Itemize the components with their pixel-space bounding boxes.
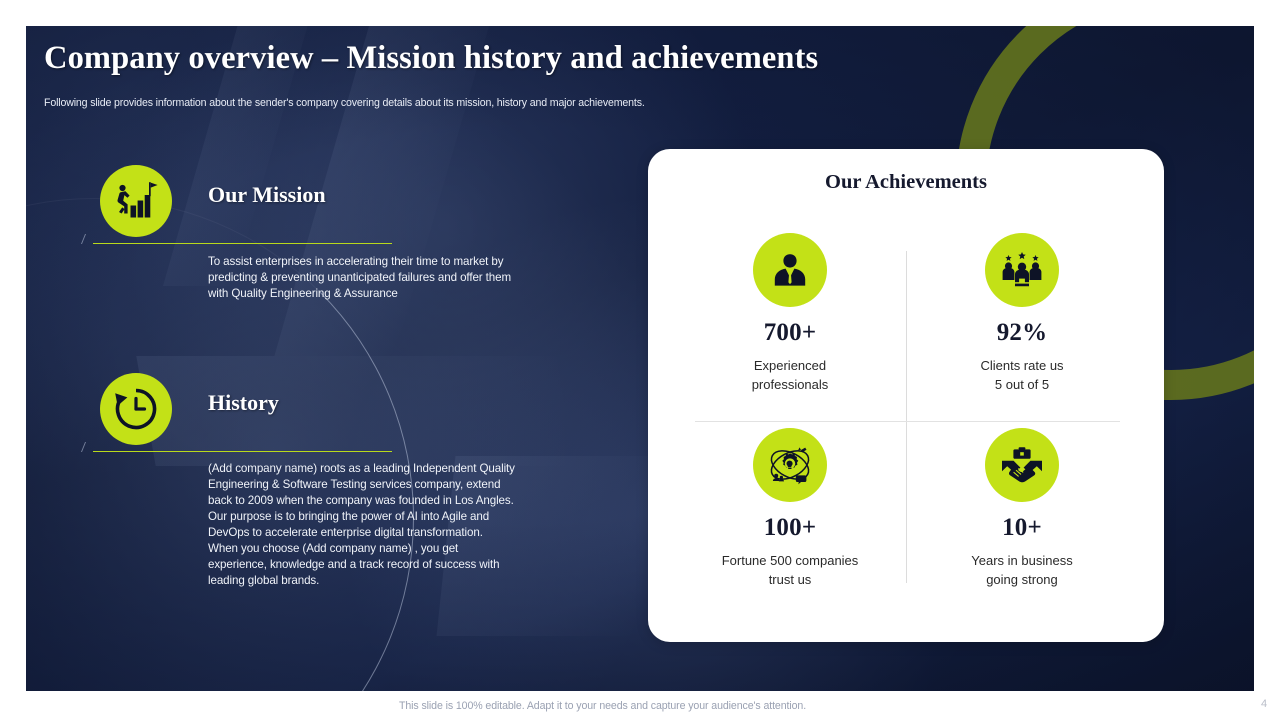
growth-steps-flag-icon xyxy=(100,165,172,237)
history-underline xyxy=(93,451,392,452)
achievement-cell: 10+ Years in business going strong xyxy=(906,424,1138,619)
slide-canvas: Company overview – Mission history and a… xyxy=(26,26,1254,691)
achievement-label: Fortune 500 companies trust us xyxy=(722,551,859,589)
achievement-label-line: trust us xyxy=(722,570,859,589)
history-header: History xyxy=(70,373,600,447)
achievement-value: 100+ xyxy=(764,514,817,542)
slide-root: Company overview – Mission history and a… xyxy=(0,0,1280,720)
achievements-title: Our Achievements xyxy=(648,171,1164,194)
handshake-briefcase-icon xyxy=(985,428,1059,502)
achievement-label: Clients rate us 5 out of 5 xyxy=(980,356,1063,394)
achievements-card: Our Achievements xyxy=(648,149,1164,642)
page-title: Company overview – Mission history and a… xyxy=(44,40,1044,77)
gear-network-idea-icon xyxy=(753,428,827,502)
mission-body-line: predicting & preventing unanticipated fa… xyxy=(208,270,570,286)
mission-heading: Our Mission xyxy=(208,182,326,208)
achievement-label-line: professionals xyxy=(752,375,829,394)
achievement-label-line: 5 out of 5 xyxy=(980,375,1063,394)
rated-people-stars-icon xyxy=(985,233,1059,307)
achievement-value: 700+ xyxy=(764,319,817,347)
mission-body-line: with Quality Engineering & Assurance xyxy=(208,286,570,302)
mission-header: Our Mission xyxy=(70,165,600,239)
history-body-line: leading global brands. xyxy=(208,573,580,589)
history-heading: History xyxy=(208,390,279,416)
achievement-label-line: Fortune 500 companies xyxy=(722,551,859,570)
achievement-label: Experienced professionals xyxy=(752,356,829,394)
history-body-line: Our purpose is to bringing the power of … xyxy=(208,509,580,525)
achievement-label-line: Clients rate us xyxy=(980,356,1063,375)
history-body: (Add company name) roots as a leading In… xyxy=(208,461,580,589)
achievements-grid: 700+ Experienced professionals xyxy=(674,229,1138,619)
achievement-label: Years in business going strong xyxy=(971,551,1072,589)
achievement-label-line: going strong xyxy=(971,570,1072,589)
mission-body: To assist enterprises in accelerating th… xyxy=(208,254,570,302)
achievement-cell: 100+ Fortune 500 companies trust us xyxy=(674,424,906,619)
history-block: History (Add company name) roots as a le… xyxy=(70,373,600,447)
page-subtitle: Following slide provides information abo… xyxy=(44,97,1054,109)
clock-rewind-icon xyxy=(100,373,172,445)
history-body-line: (Add company name) roots as a leading In… xyxy=(208,461,580,477)
history-body-line: When you choose (Add company name) , you… xyxy=(208,541,580,557)
mission-underline xyxy=(93,243,392,244)
achievement-cell: 700+ Experienced professionals xyxy=(674,229,906,424)
achievement-cell: 92% Clients rate us 5 out of 5 xyxy=(906,229,1138,424)
footer-note: This slide is 100% editable. Adapt it to… xyxy=(399,700,806,712)
achievement-label-line: Years in business xyxy=(971,551,1072,570)
history-body-line: experience, knowledge and a track record… xyxy=(208,557,580,573)
achievement-value: 10+ xyxy=(1002,514,1042,542)
history-body-line: Engineering & Software Testing services … xyxy=(208,477,580,493)
mission-body-line: To assist enterprises in accelerating th… xyxy=(208,254,570,270)
businessman-icon xyxy=(753,233,827,307)
history-body-line: back to 2009 when the company was founde… xyxy=(208,493,580,509)
page-number: 4 xyxy=(1261,698,1267,710)
mission-block: Our Mission To assist enterprises in acc… xyxy=(70,165,600,239)
achievement-label-line: Experienced xyxy=(752,356,829,375)
achievement-value: 92% xyxy=(997,319,1048,347)
history-body-line: DevOps to accelerate enterprise digital … xyxy=(208,525,580,541)
